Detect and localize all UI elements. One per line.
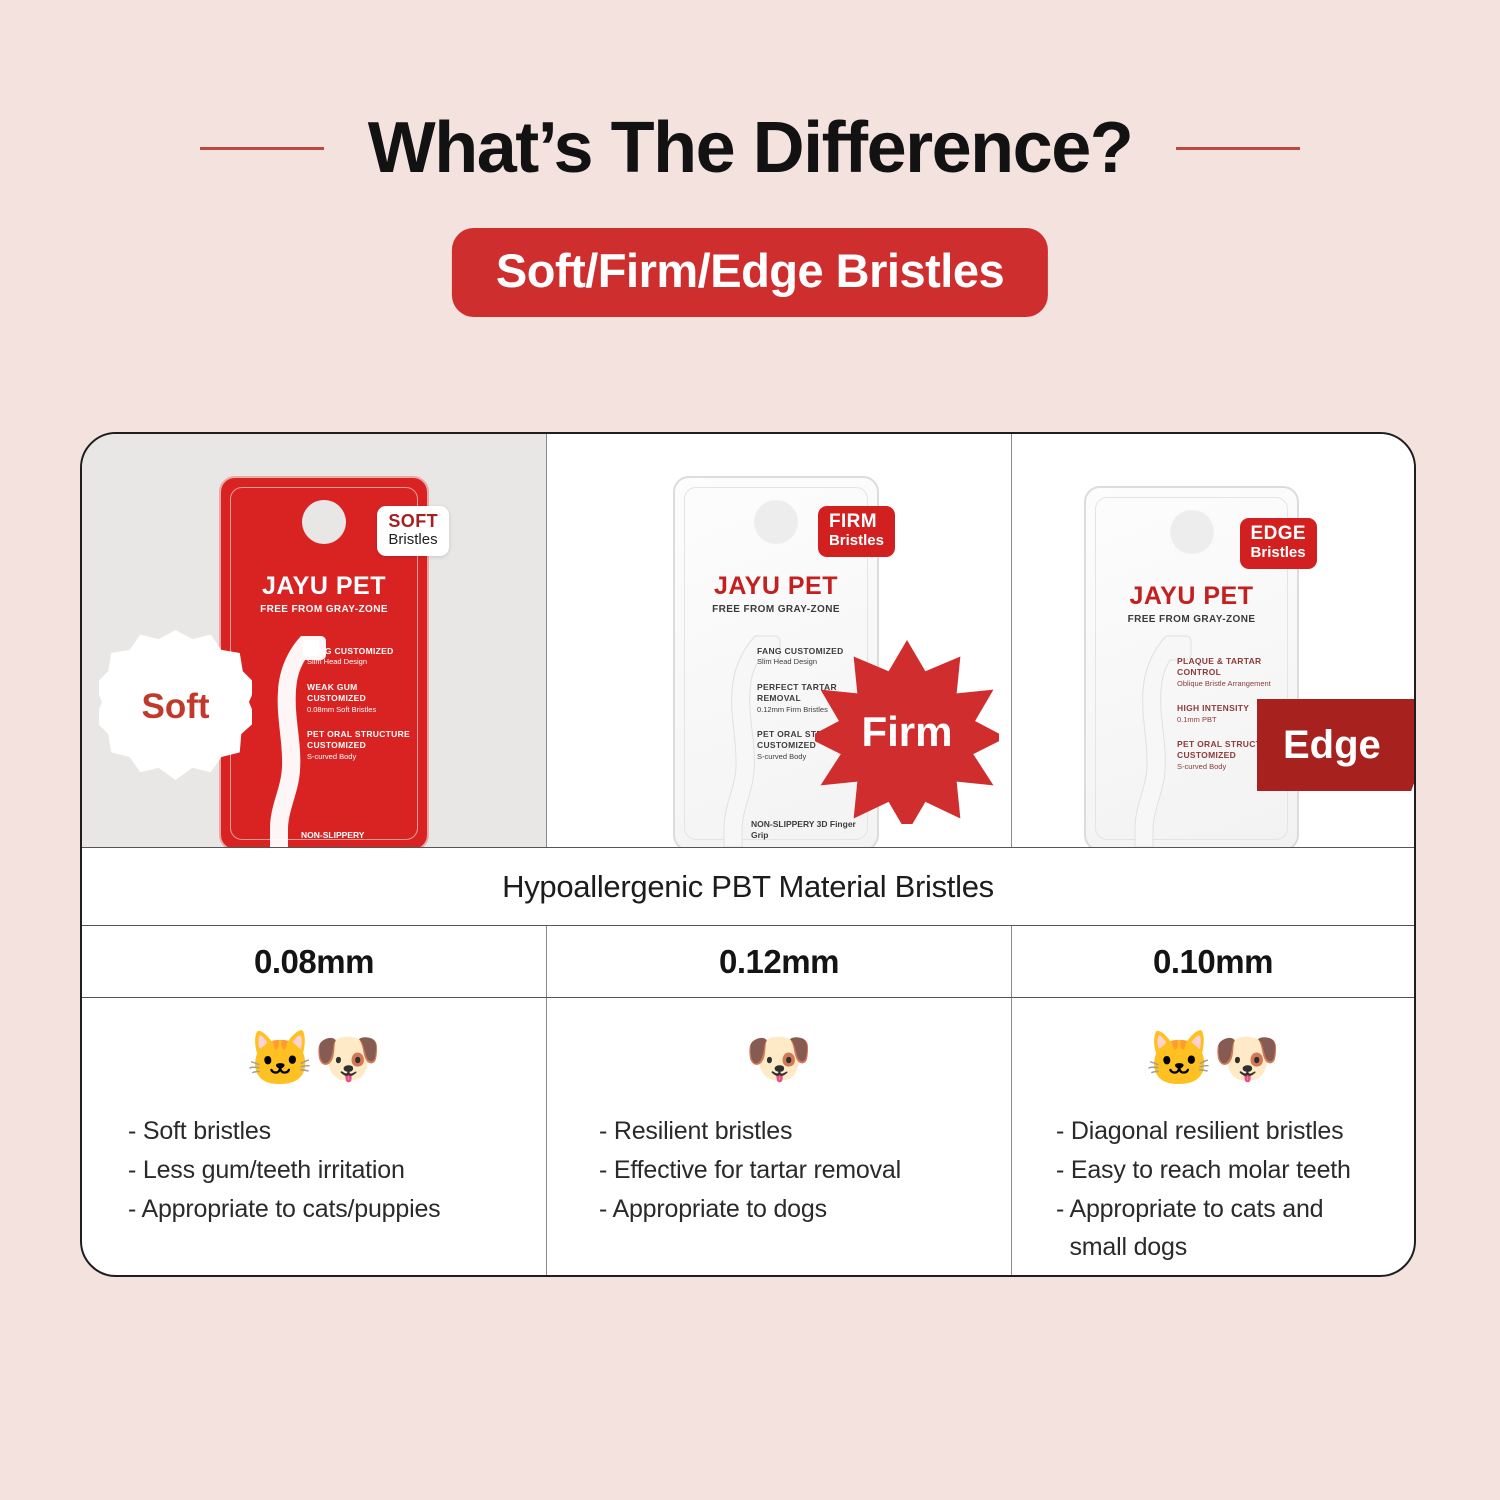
detail-row: 🐱🐶 - Soft bristles - Less gum/teeth irri…: [82, 998, 1414, 1277]
bullet-item: - Resilient bristles: [547, 1112, 1011, 1151]
bristle-type-tag-edge: EDGE Bristles: [1240, 518, 1317, 569]
callout-item: PLAQUE & TARTAR CONTROL Oblique Bristle …: [1177, 656, 1289, 689]
pet-icons-edge: 🐱🐶: [1012, 1020, 1414, 1098]
tag-subtitle: Bristles: [388, 532, 438, 549]
product-panels-row: JAYU PET FREE FROM GRAY-ZONE FANG CUSTOM…: [82, 434, 1414, 848]
thickness-row: 0.08mm 0.12mm 0.10mm: [82, 926, 1414, 998]
brand-tagline: FREE FROM GRAY-ZONE: [221, 604, 427, 615]
bullet-item: - Appropriate to cats and small dogs: [1012, 1190, 1414, 1268]
brand-name: JAYU PET: [1086, 582, 1297, 611]
bullet-item: - Soft bristles: [82, 1112, 546, 1151]
badge-edge: Edge: [1257, 699, 1414, 791]
hang-hole: [754, 500, 798, 544]
thickness-edge: 0.10mm: [1012, 926, 1414, 997]
product-panel-edge: JAYU PET FREE FROM GRAY-ZONE PLAQUE & TA…: [1012, 434, 1414, 847]
brand-name: JAYU PET: [675, 572, 877, 601]
callout-body: S-curved Body: [307, 752, 419, 762]
bullet-item: - Appropriate to cats/puppies: [82, 1190, 546, 1229]
material-banner-row: Hypoallergenic PBT Material Bristles: [82, 848, 1414, 926]
product-package-soft: JAYU PET FREE FROM GRAY-ZONE FANG CUSTOM…: [219, 476, 429, 847]
bullet-item: - Diagonal resilient bristles: [1012, 1112, 1414, 1151]
bullet-list-soft: - Soft bristles - Less gum/teeth irritat…: [82, 1098, 546, 1228]
callout-heading: FANG CUSTOMIZED: [757, 646, 869, 657]
product-package-edge: JAYU PET FREE FROM GRAY-ZONE PLAQUE & TA…: [1084, 486, 1299, 847]
title-row: What’s The Difference?: [0, 98, 1500, 198]
bullet-item: - Effective for tartar removal: [547, 1151, 1011, 1190]
detail-cell-soft: 🐱🐶 - Soft bristles - Less gum/teeth irri…: [82, 998, 547, 1277]
callout-item: WEAK GUM CUSTOMIZED 0.08mm Soft Bristles: [307, 682, 419, 715]
callout-heading: WEAK GUM CUSTOMIZED: [307, 682, 419, 705]
pet-icons-soft: 🐱🐶: [82, 1020, 546, 1098]
detail-cell-edge: 🐱🐶 - Diagonal resilient bristles - Easy …: [1012, 998, 1414, 1277]
page-title: What’s The Difference?: [368, 112, 1132, 184]
tag-title: SOFT: [388, 512, 438, 532]
product-panel-firm: JAYU PET FREE FROM GRAY-ZONE FANG CUSTOM…: [547, 434, 1012, 847]
bristle-type-tag-firm: FIRM Bristles: [818, 506, 895, 557]
detail-cell-firm: 🐶 - Resilient bristles - Effective for t…: [547, 998, 1012, 1277]
subtitle-pill: Soft/Firm/Edge Bristles: [452, 228, 1048, 317]
material-banner-text: Hypoallergenic PBT Material Bristles: [502, 869, 994, 905]
brand-name: JAYU PET: [221, 572, 427, 601]
bullet-list-firm: - Resilient bristles - Effective for tar…: [547, 1098, 1011, 1228]
callout-footnote: NON-SLIPPERY: [301, 830, 417, 841]
product-panel-soft: JAYU PET FREE FROM GRAY-ZONE FANG CUSTOM…: [82, 434, 547, 847]
bullet-item: - Easy to reach molar teeth: [1012, 1151, 1414, 1190]
tag-title: EDGE: [1251, 524, 1306, 545]
title-rule-right: [1176, 147, 1300, 150]
callout-heading: PET ORAL STRUCTURE CUSTOMIZED: [307, 729, 419, 752]
brand-tagline: FREE FROM GRAY-ZONE: [1086, 614, 1297, 625]
callout-body: Oblique Bristle Arrangement: [1177, 679, 1289, 689]
callout-heading: PLAQUE & TARTAR CONTROL: [1177, 656, 1289, 679]
callout-item: FANG CUSTOMIZED Slim Head Design: [307, 646, 419, 668]
bullet-item: - Appropriate to dogs: [547, 1190, 1011, 1229]
bristle-type-tag-soft: SOFT Bristles: [377, 506, 449, 556]
callout-heading: FANG CUSTOMIZED: [307, 646, 419, 657]
pet-icons-firm: 🐶: [547, 1020, 1011, 1098]
page-header: What’s The Difference? Soft/Firm/Edge Br…: [0, 0, 1500, 420]
bullet-list-edge: - Diagonal resilient bristles - Easy to …: [1012, 1098, 1414, 1267]
callout-body: 0.08mm Soft Bristles: [307, 705, 419, 715]
hang-hole: [302, 500, 346, 544]
tag-subtitle: Bristles: [829, 533, 884, 550]
comparison-card: JAYU PET FREE FROM GRAY-ZONE FANG CUSTOM…: [80, 432, 1416, 1277]
product-package-firm: JAYU PET FREE FROM GRAY-ZONE FANG CUSTOM…: [673, 476, 879, 847]
callout-item: FANG CUSTOMIZED Slim Head Design: [757, 646, 869, 668]
thickness-soft: 0.08mm: [82, 926, 547, 997]
bullet-item: - Less gum/teeth irritation: [82, 1151, 546, 1190]
callout-body: Slim Head Design: [757, 657, 869, 667]
brand-tagline: FREE FROM GRAY-ZONE: [675, 604, 877, 615]
tag-title: FIRM: [829, 512, 884, 533]
title-rule-left: [200, 147, 324, 150]
thickness-firm: 0.12mm: [547, 926, 1012, 997]
tag-subtitle: Bristles: [1251, 545, 1306, 562]
package-callouts: FANG CUSTOMIZED Slim Head Design WEAK GU…: [307, 646, 419, 776]
callout-footnote: NON-SLIPPERY 3D Finger Grip: [751, 819, 867, 841]
hang-hole: [1170, 510, 1214, 554]
callout-item: PET ORAL STRUCTURE CUSTOMIZED S-curved B…: [307, 729, 419, 762]
callout-body: Slim Head Design: [307, 657, 419, 667]
